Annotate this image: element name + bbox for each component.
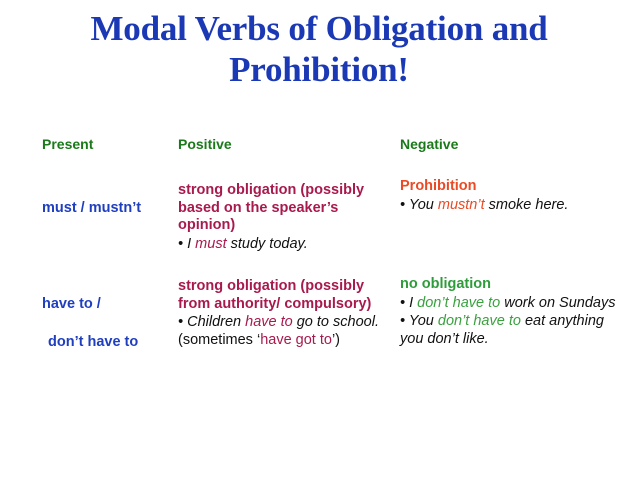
row-label-have-to-line1: have to / [42, 296, 101, 312]
example-highlight: don’t have to [438, 313, 521, 329]
positive-heading-have-to: strong obligation (possibly from authori… [178, 278, 396, 313]
bullet-glyph: • [400, 197, 409, 213]
example-highlight: must [195, 236, 226, 252]
bullet-glyph: • [400, 295, 409, 311]
row-negative-dont-have-to: no obligation • I don’t have to work on … [400, 276, 630, 348]
note-post: ’) [332, 332, 340, 348]
row-positive-must: strong obligation (possibly based on the… [178, 182, 396, 253]
column-header-present: Present [42, 136, 174, 153]
positive-heading-must: strong obligation (possibly based on the… [178, 182, 396, 235]
bullet-glyph: • [178, 314, 187, 330]
column-header-positive: Positive [178, 136, 396, 153]
example-pre: You [409, 197, 438, 213]
slide-canvas: Modal Verbs of Obligation and Prohibitio… [0, 0, 638, 479]
positive-example-have-to: • Children have to go to school. [178, 313, 396, 331]
bullet-glyph: • [400, 313, 409, 329]
example-highlight: have to [245, 314, 293, 330]
negative-example-dont-have-to-1: • I don’t have to work on Sundays [400, 294, 630, 312]
example-pre: I [187, 236, 195, 252]
note-highlight: have got to [260, 332, 332, 348]
example-post: work on Sundays [500, 295, 615, 311]
negative-heading-no-obligation: no obligation [400, 276, 630, 294]
positive-example-must: • I must study today. [178, 235, 396, 253]
row-negative-mustnt: Prohibition • You mustn’t smoke here. [400, 178, 630, 214]
modal-verbs-table: Present Positive Negative must / mustn’t… [0, 0, 638, 479]
negative-example-mustnt: • You mustn’t smoke here. [400, 196, 630, 214]
positive-note-have-got-to: (sometimes ‘have got to’) [178, 331, 396, 349]
row-label-must: must / mustn’t [42, 180, 174, 218]
bullet-glyph: • [178, 236, 187, 252]
example-pre: Children [187, 314, 245, 330]
example-post: go to school. [293, 314, 379, 330]
negative-example-dont-have-to-2: • You don’t have to eat anything you don… [400, 312, 630, 348]
example-highlight: don’t have to [417, 295, 500, 311]
example-pre: I [409, 295, 417, 311]
note-pre: (sometimes ‘ [178, 332, 260, 348]
row-positive-have-to: strong obligation (possibly from authori… [178, 278, 396, 349]
column-header-negative: Negative [400, 136, 630, 153]
example-pre: You [409, 313, 438, 329]
example-post: smoke here. [485, 197, 569, 213]
example-post: study today. [227, 236, 308, 252]
row-label-must-line1: must / mustn’t [42, 200, 141, 216]
row-label-have-to: have to / don’t have to [42, 276, 174, 352]
row-label-have-to-line2: don’t have to [42, 333, 138, 352]
example-highlight: mustn’t [438, 197, 485, 213]
negative-heading-prohibition: Prohibition [400, 178, 630, 196]
